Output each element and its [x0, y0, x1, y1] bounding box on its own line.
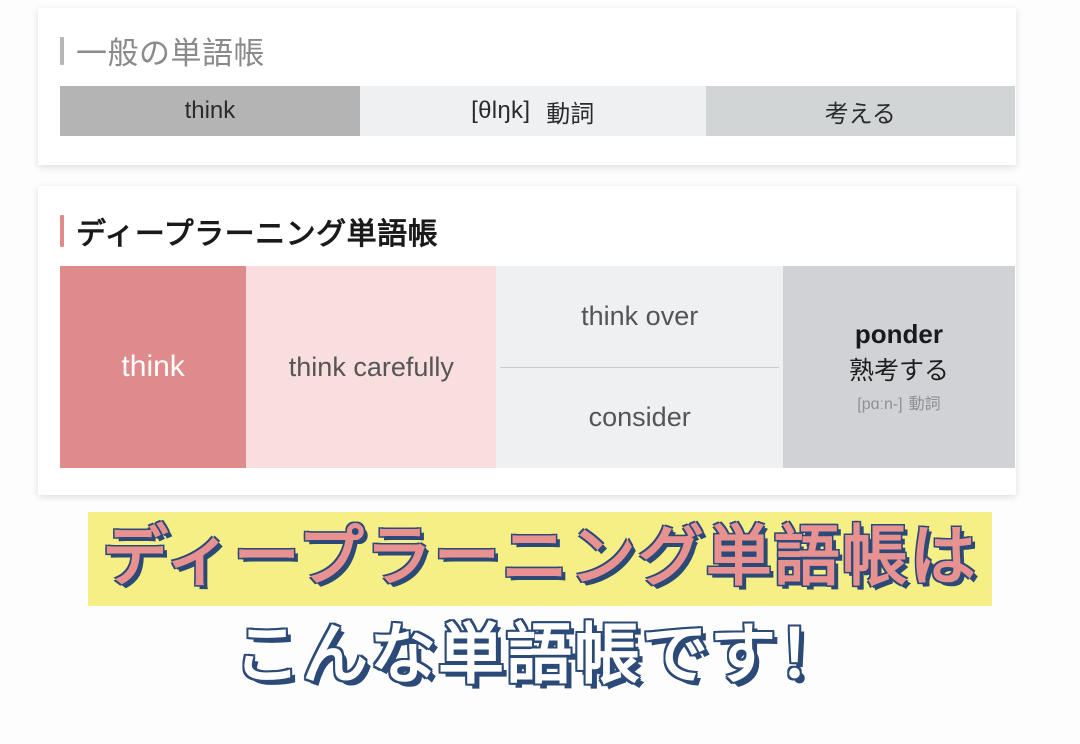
deep-gloss-text: think carefully	[289, 352, 454, 383]
deep-advanced-pos-text: 動詞	[909, 396, 941, 413]
basic-wordbook-heading-label: 一般の単語帳	[76, 28, 265, 73]
deep-wordbook-heading-label: ディープラーニング単語帳	[76, 209, 438, 253]
basic-word-cell: think	[60, 86, 360, 136]
basic-pos-text: 動詞	[546, 94, 594, 129]
deep-advanced-ipa-text: [pɑːn-]	[857, 396, 902, 413]
promo-headline-line-2: こんな単語帳です！	[234, 616, 846, 694]
deep-root-word-text: think	[121, 350, 184, 384]
basic-word-text: think	[185, 97, 236, 125]
deep-gloss-cell: think carefully	[246, 266, 496, 468]
deep-synonym-item: consider	[496, 368, 783, 469]
deep-learning-wordbook-card: ディープラーニング単語帳 think think carefully think…	[38, 186, 1016, 495]
promo-headline-line-2-wrap: こんな単語帳です！	[0, 616, 1080, 694]
deep-synonym-text: consider	[589, 402, 691, 433]
deep-root-word-cell: think	[60, 266, 246, 468]
deep-advanced-meta: [pɑːn-]動詞	[857, 395, 940, 415]
deep-wordbook-heading: ディープラーニング単語帳	[60, 209, 438, 253]
deep-synonyms-cell: think over consider	[496, 266, 783, 468]
basic-japanese-cell: 考える	[706, 86, 1015, 136]
basic-wordbook-heading: 一般の単語帳	[60, 28, 265, 73]
heading-accent-bar	[60, 37, 64, 65]
deep-word-grid: think think carefully think over conside…	[60, 266, 1015, 468]
basic-ipa-text: [θlŋk]	[471, 97, 530, 125]
basic-wordbook-card: 一般の単語帳 think [θlŋk] 動詞 考える	[38, 8, 1016, 165]
basic-meta-cell: [θlŋk] 動詞	[360, 86, 706, 136]
basic-word-row: think [θlŋk] 動詞 考える	[60, 86, 1015, 136]
heading-accent-bar	[60, 215, 64, 247]
promo-headline-line-1: ディープラーニング単語帳は	[88, 512, 991, 606]
deep-advanced-word-cell: ponder 熟考する [pɑːn-]動詞	[783, 266, 1015, 468]
basic-japanese-text: 考える	[825, 94, 896, 129]
deep-synonym-item: think over	[496, 266, 783, 367]
deep-advanced-word-text: ponder	[855, 318, 943, 351]
promo-headline: ディープラーニング単語帳は こんな単語帳です！	[0, 512, 1080, 694]
deep-synonym-text: think over	[581, 301, 698, 332]
deep-advanced-japanese-text: 熟考する	[849, 355, 949, 387]
